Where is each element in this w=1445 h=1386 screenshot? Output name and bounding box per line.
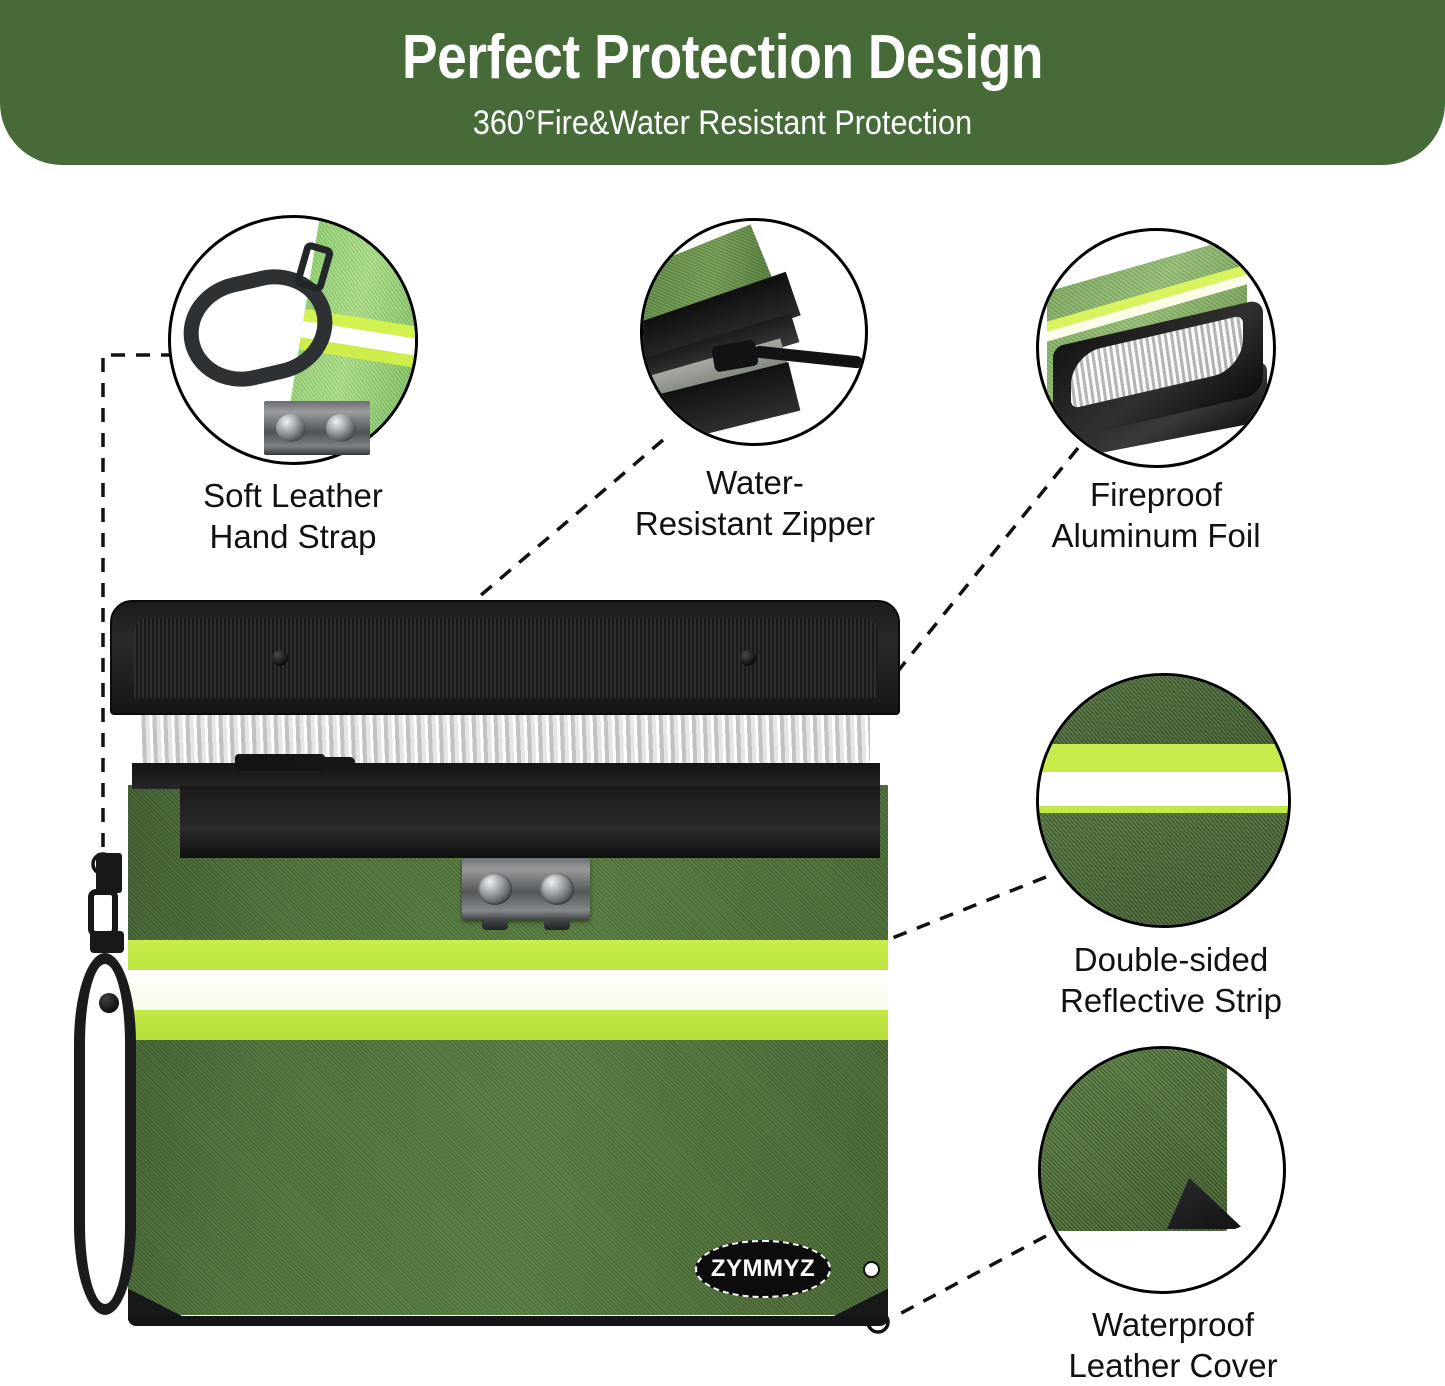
page-title: Perfect Protection Design	[101, 22, 1344, 93]
bag-bottom-edge	[128, 1316, 888, 1326]
callout-label-line2: Hand Strap	[128, 516, 458, 557]
bag-clasp-dome-left	[478, 873, 512, 905]
product-infographic: Perfect Protection Design 360°Fire&Water…	[0, 0, 1445, 1386]
bag-zipper-pull	[295, 757, 355, 768]
bag-wrist-strap	[66, 845, 176, 1335]
reflective-strip-icon	[1036, 673, 1291, 928]
aluminum-foil-icon	[1036, 228, 1276, 468]
product-bag: ZYMMYZ	[110, 600, 900, 1320]
page-subtitle: 360°Fire&Water Resistant Protection	[72, 104, 1373, 143]
callout-water-resistant-zipper: Water- Resistant Zipper	[640, 218, 940, 548]
callout-label-reflective: Double-sided Reflective Strip	[1011, 939, 1331, 1021]
bag-clasp-dome-right	[540, 873, 574, 905]
wrist-strap-stud	[99, 993, 119, 1013]
callout-label-line2: Reflective Strip	[1011, 980, 1331, 1021]
bag-clasp-foot-left	[482, 918, 508, 930]
brand-badge: ZYMMYZ	[695, 1240, 831, 1298]
callout-soft-leather-hand-strap: Soft Leather Hand Strap	[168, 215, 468, 545]
callout-label-zipper: Water- Resistant Zipper	[595, 462, 915, 544]
callout-label-hand-strap: Soft Leather Hand Strap	[128, 475, 458, 557]
bag-grommet	[863, 1261, 880, 1278]
reflective-lime-upper	[1039, 744, 1288, 772]
bag-metal-clasp	[462, 858, 590, 920]
metal-clasp-plate	[264, 401, 370, 455]
bag-lime-stripe-lower	[128, 1010, 888, 1040]
callout-label-line2: Leather Cover	[1013, 1345, 1333, 1386]
callout-label-line2: Aluminum Foil	[996, 515, 1316, 556]
zipper-icon	[640, 218, 868, 446]
bag-flap-velcro	[134, 618, 878, 698]
wrist-strap-tab	[96, 853, 122, 893]
leather-cover-icon	[1038, 1046, 1286, 1294]
bag-flap-stud-left	[272, 650, 288, 666]
callout-waterproof-leather-cover: Waterproof Leather Cover	[1038, 1046, 1338, 1376]
callout-label-leather: Waterproof Leather Cover	[1013, 1304, 1333, 1386]
callout-double-sided-reflective-strip: Double-sided Reflective Strip	[1036, 673, 1336, 1003]
reflective-fabric-top	[1039, 676, 1288, 744]
clasp-dome-right	[326, 414, 356, 442]
callout-label-line2: Resistant Zipper	[595, 503, 915, 544]
reflective-white-band	[1039, 772, 1288, 806]
callout-fireproof-aluminum-foil: Fireproof Aluminum Foil	[1036, 228, 1336, 558]
callout-label-line1: Waterproof	[1013, 1304, 1333, 1345]
callout-label-line1: Water-	[595, 462, 915, 503]
bag-flap-stud-right	[740, 650, 756, 666]
callout-label-line1: Double-sided	[1011, 939, 1331, 980]
bag-lime-stripe-upper	[128, 940, 888, 970]
clasp-dome-left	[276, 414, 306, 442]
bag-white-stripe	[128, 970, 888, 1010]
wrist-strap-clip-body	[90, 931, 124, 953]
header-banner: Perfect Protection Design 360°Fire&Water…	[0, 0, 1445, 165]
bag-inner-velcro-band	[180, 786, 880, 858]
bag-top-flap	[110, 600, 900, 715]
wrist-strap-clip	[88, 889, 118, 937]
callout-label-line1: Soft Leather	[128, 475, 458, 516]
callout-label-line1: Fireproof	[996, 474, 1316, 515]
reflective-fabric-bottom	[1039, 813, 1288, 925]
bag-clasp-foot-right	[544, 918, 570, 930]
callout-label-foil: Fireproof Aluminum Foil	[996, 474, 1316, 556]
